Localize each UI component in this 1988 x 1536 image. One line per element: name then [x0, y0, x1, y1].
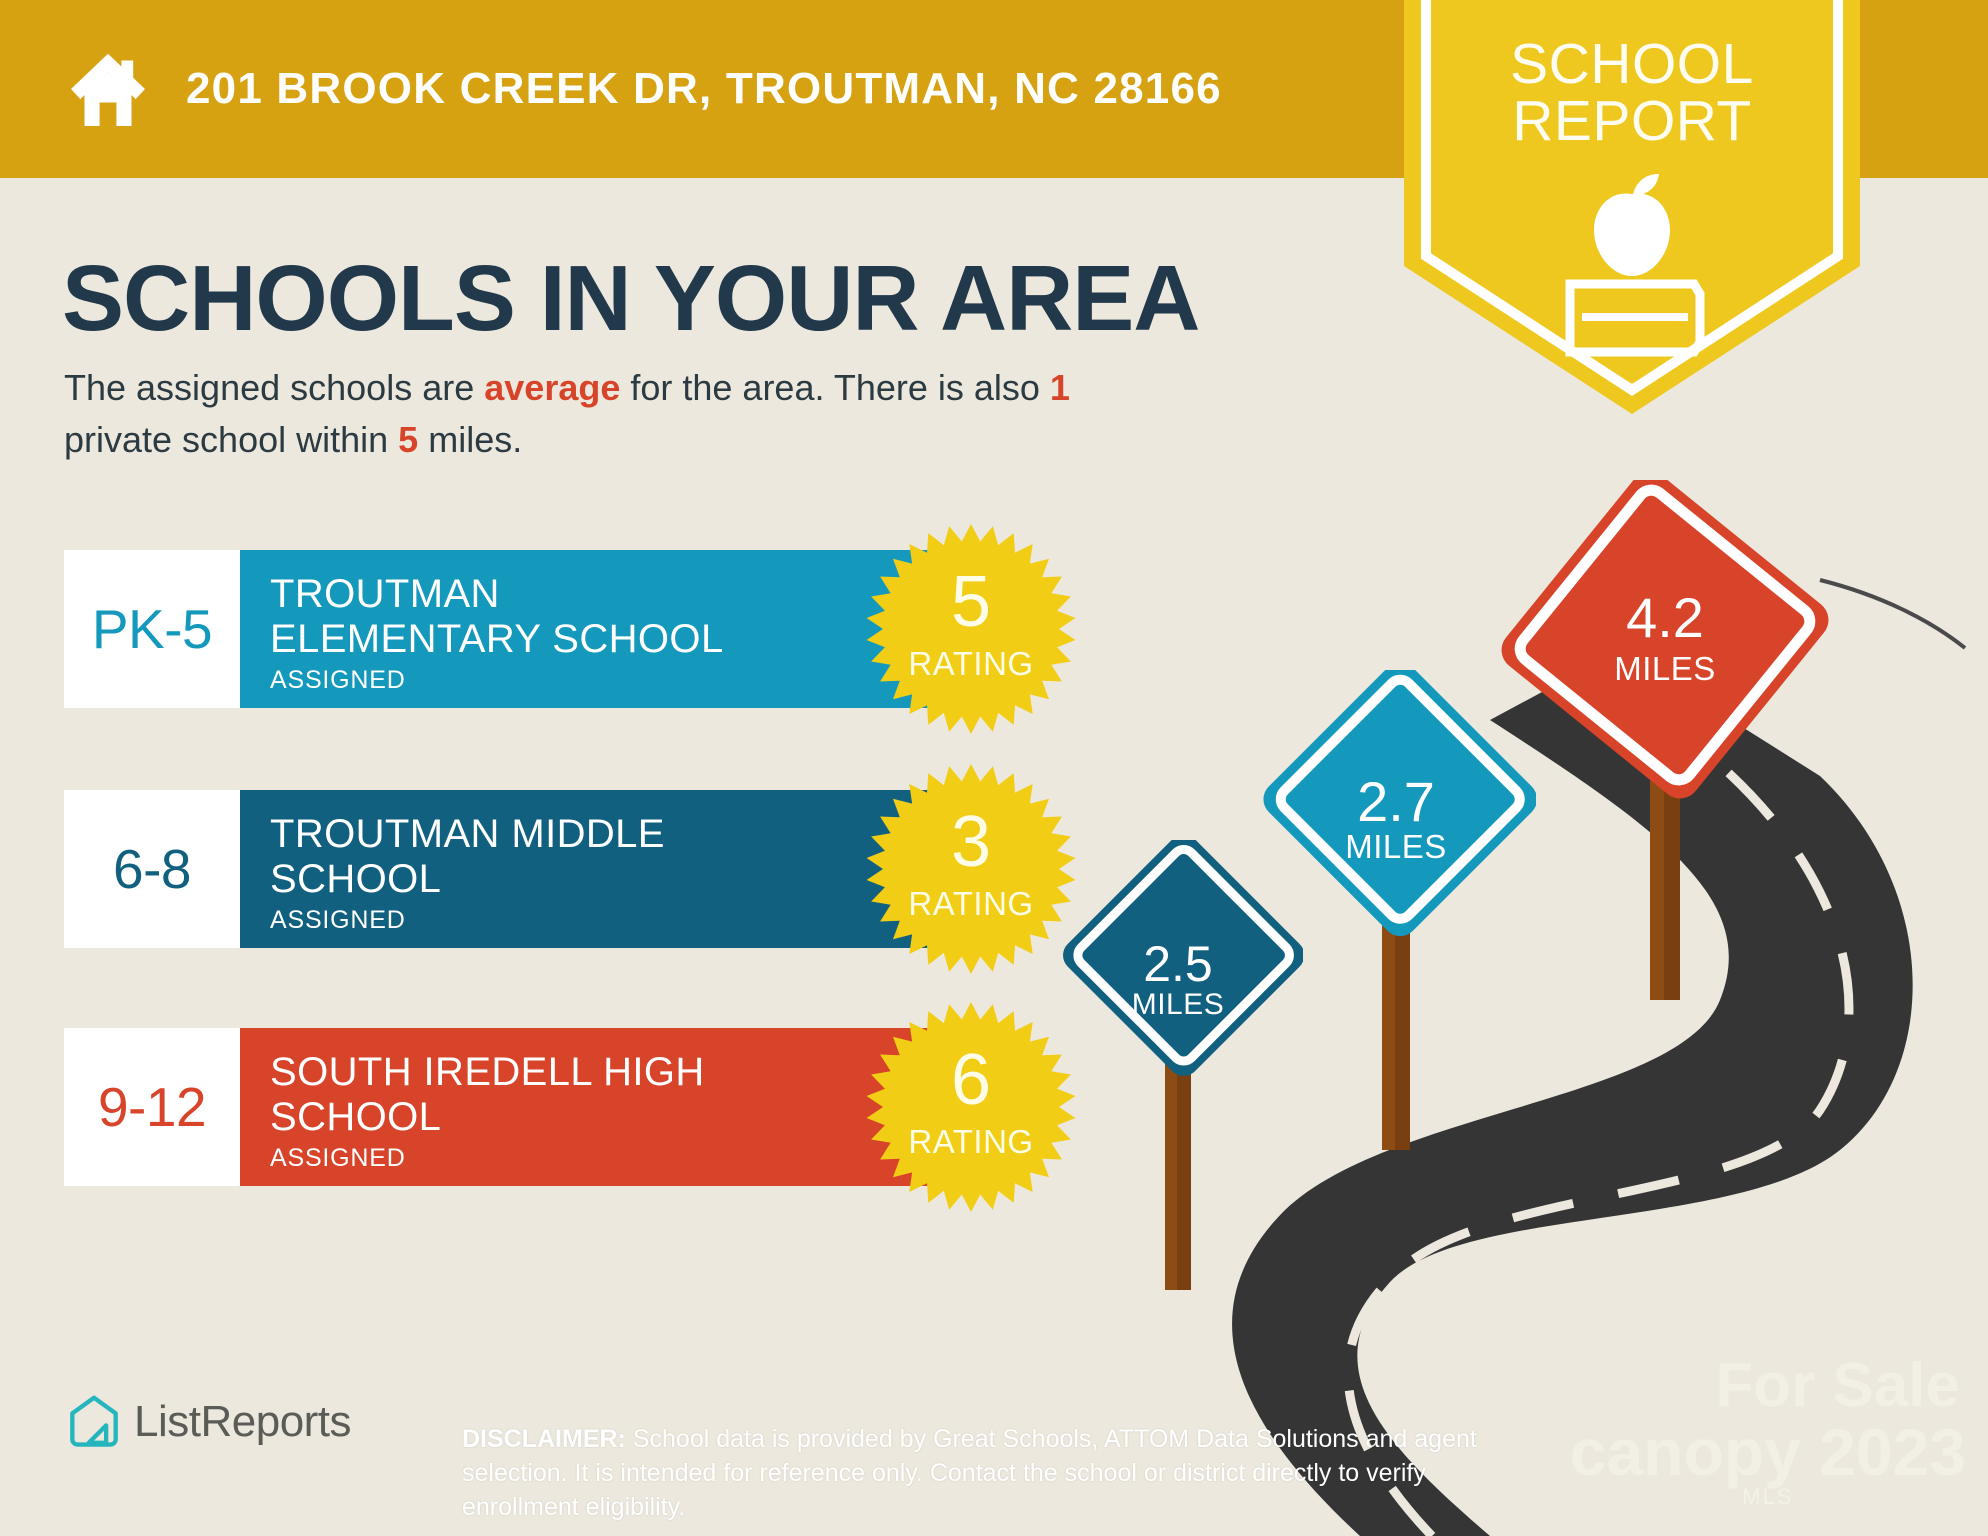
subtitle-part-4: miles. — [418, 419, 522, 460]
distance-sign: 2.5 MILES — [1053, 840, 1303, 1290]
school-status-label: ASSIGNED — [270, 1144, 952, 1173]
school-info-bar: TROUTMAN ELEMENTARY SCHOOL ASSIGNED — [240, 550, 952, 708]
school-name-line-2: SCHOOL — [270, 857, 952, 902]
subtitle-part-3: private school within — [64, 419, 398, 460]
grade-range-box: 9-12 — [64, 1028, 240, 1186]
school-name: SOUTH IREDELL HIGH SCHOOL — [270, 1050, 952, 1140]
grade-range-box: PK-5 — [64, 550, 240, 708]
listreports-house-icon — [68, 1394, 120, 1450]
property-address: 201 BROOK CREEK DR, TROUTMAN, NC 28166 — [186, 64, 1222, 114]
rating-value: 6 — [864, 1044, 1078, 1116]
school-status-label: ASSIGNED — [270, 666, 952, 695]
school-info-bar: TROUTMAN MIDDLE SCHOOL ASSIGNED — [240, 790, 952, 948]
grade-range-label: 6-8 — [113, 837, 191, 901]
disclaimer-label: DISCLAIMER: — [462, 1425, 626, 1453]
rating-label: RATING — [864, 885, 1078, 923]
school-report-badge: SCHOOL REPORT — [1404, 0, 1860, 414]
school-name: TROUTMAN MIDDLE SCHOOL — [270, 812, 952, 902]
road-illustration: 4.2 MILES 2.7 MILES 2.5 MILES — [1060, 470, 1988, 1536]
rating-starburst-badge: 6 RATING — [864, 1000, 1078, 1214]
rating-starburst-badge: 3 RATING — [864, 762, 1078, 976]
page-title: SCHOOLS IN YOUR AREA — [62, 245, 1199, 352]
grade-range-label: 9-12 — [98, 1075, 206, 1139]
grade-range-box: 6-8 — [64, 790, 240, 948]
school-name-line-1: TROUTMAN MIDDLE — [270, 812, 952, 857]
disclaimer-text: DISCLAIMER: School data is provided by G… — [462, 1422, 1482, 1524]
school-name-line-1: SOUTH IREDELL HIGH — [270, 1050, 952, 1095]
school-name-line-2: ELEMENTARY SCHOOL — [270, 617, 952, 662]
grade-range-label: PK-5 — [92, 597, 212, 661]
listreports-logo[interactable]: ListReports — [68, 1394, 351, 1450]
page-subtitle: The assigned schools are average for the… — [64, 362, 1154, 466]
subtitle-highlight-average: average — [484, 367, 620, 408]
rating-label: RATING — [864, 1123, 1078, 1161]
listreports-wordmark: ListReports — [134, 1397, 351, 1447]
school-name-line-2: SCHOOL — [270, 1095, 952, 1140]
school-name-line-1: TROUTMAN — [270, 572, 952, 617]
home-icon — [66, 47, 150, 131]
subtitle-part-1: The assigned schools are — [64, 367, 484, 408]
rating-value: 3 — [864, 806, 1078, 878]
header-bar: 201 BROOK CREEK DR, TROUTMAN, NC 28166 — [0, 0, 1496, 178]
subtitle-part-2: for the area. There is also — [620, 367, 1050, 408]
badge-line-2: REPORT — [1404, 93, 1860, 150]
rating-label: RATING — [864, 645, 1078, 683]
distance-sign: 4.2 MILES — [1500, 480, 1830, 1000]
rating-value: 5 — [864, 566, 1078, 638]
subtitle-highlight-count: 1 — [1050, 367, 1070, 408]
badge-line-1: SCHOOL — [1404, 36, 1860, 93]
school-name: TROUTMAN ELEMENTARY SCHOOL — [270, 572, 952, 662]
school-info-bar: SOUTH IREDELL HIGH SCHOOL ASSIGNED — [240, 1028, 952, 1186]
school-status-label: ASSIGNED — [270, 906, 952, 935]
rating-starburst-badge: 5 RATING — [864, 522, 1078, 736]
subtitle-highlight-miles: 5 — [398, 419, 418, 460]
school-report-badge-label: SCHOOL REPORT — [1404, 36, 1860, 150]
